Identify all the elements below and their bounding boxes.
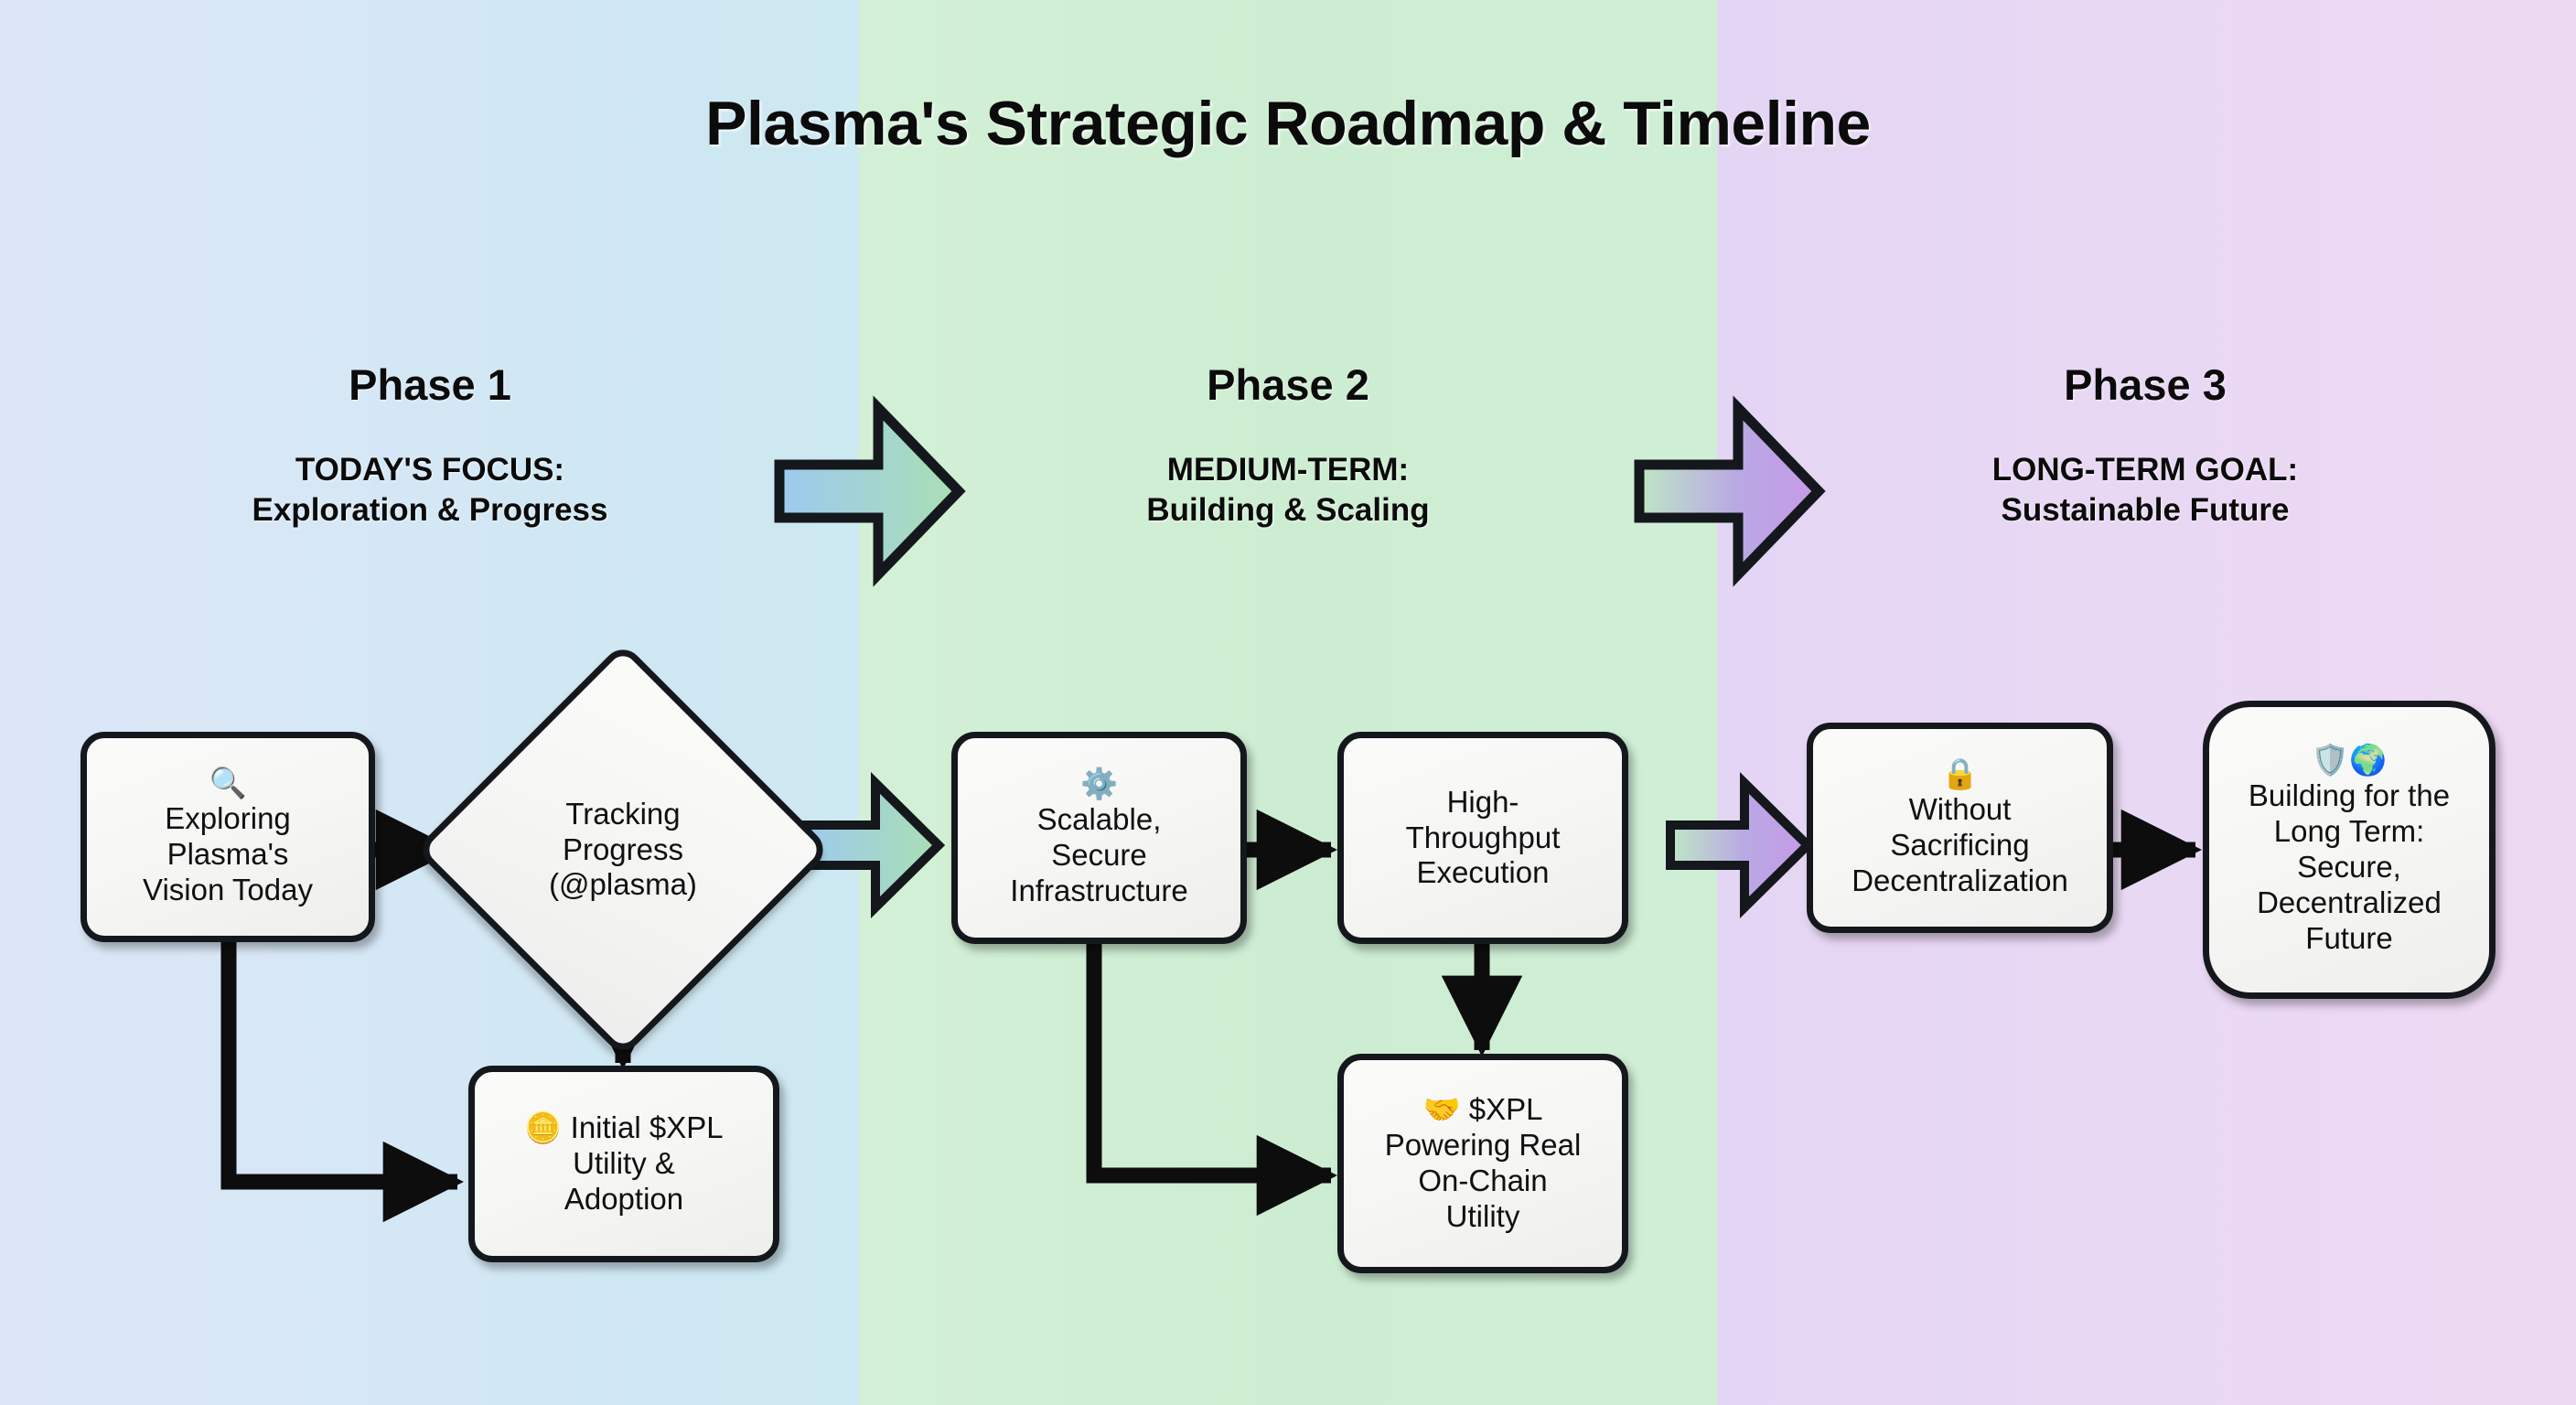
connector-n4-to-n6 xyxy=(1094,944,1331,1175)
flow-connectors-layer xyxy=(0,0,2576,1405)
node-n4-line-3: Infrastructure xyxy=(1010,874,1187,909)
node-n4-line-1: Scalable, xyxy=(1010,802,1187,838)
node-n8-line-4: Decentralized xyxy=(2249,885,2450,921)
node-n1-line-1: Exploring xyxy=(143,801,313,837)
gear-icon: ⚙️ xyxy=(1010,767,1187,802)
phase2-to-phase3-mid-arrow xyxy=(1670,783,1808,907)
node-n8-line-2: Long Term: xyxy=(2249,814,2450,850)
phase1-to-phase2-top-arrow xyxy=(779,408,959,574)
node-n1-line-2: Plasma's xyxy=(143,837,313,873)
phase2-to-phase3-top-arrow xyxy=(1639,408,1819,574)
node-n8-line-1: Building for the xyxy=(2249,778,2450,814)
node-n2-label: Tracking Progress (@plasma) xyxy=(549,797,697,904)
lock-icon: 🔒 xyxy=(1851,756,2068,792)
node-n6-line-1: 🤝 $XPL xyxy=(1385,1092,1582,1128)
node-n5-line-3: Execution xyxy=(1406,855,1561,891)
handshake-icon: 🤝 xyxy=(1423,1092,1461,1126)
node-exploring-plasma-vision[interactable]: 🔍 Exploring Plasma's Vision Today xyxy=(80,732,375,942)
node-tracking-progress[interactable]: Tracking Progress (@plasma) xyxy=(476,702,770,997)
node-n6-line-3: On-Chain xyxy=(1385,1164,1582,1199)
node-n2-line-1: Tracking xyxy=(549,797,697,832)
node-n3-line-1: 🪙 Initial $XPL xyxy=(524,1110,723,1146)
node-n7-line-3: Decentralization xyxy=(1851,863,2068,899)
node-n3-line-2: Utility & xyxy=(524,1146,723,1182)
connector-n1-to-n3 xyxy=(229,942,457,1182)
magnifying-glass-icon: 🔍 xyxy=(143,766,313,801)
coin-icon: 🪙 xyxy=(524,1110,562,1144)
node-high-throughput-execution[interactable]: High- Throughput Execution xyxy=(1337,732,1628,944)
node-n8-line-3: Secure, xyxy=(2249,850,2450,885)
node-n2-line-2: Progress xyxy=(549,832,697,868)
node-n6-line-4: Utility xyxy=(1385,1199,1582,1235)
node-building-long-term-future[interactable]: 🛡️🌍 Building for the Long Term: Secure, … xyxy=(2203,701,2495,999)
node-n8-line-5: Future xyxy=(2249,921,2450,957)
node-n6-line-2: Powering Real xyxy=(1385,1128,1582,1164)
node-without-sacrificing-decentralization[interactable]: 🔒 Without Sacrificing Decentralization xyxy=(1807,723,2113,933)
node-n5-line-2: Throughput xyxy=(1406,820,1561,856)
node-n7-line-2: Sacrificing xyxy=(1851,828,2068,863)
node-n1-line-3: Vision Today xyxy=(143,873,313,908)
node-initial-xpl-utility[interactable]: 🪙 Initial $XPL Utility & Adoption xyxy=(468,1066,779,1262)
node-n4-line-2: Secure xyxy=(1010,838,1187,874)
node-n3-line-3: Adoption xyxy=(524,1182,723,1217)
roadmap-diagram: Plasma's Strategic Roadmap & Timeline Ph… xyxy=(0,0,2576,1405)
node-n7-line-1: Without xyxy=(1851,792,2068,828)
shield-globe-icon: 🛡️🌍 xyxy=(2249,743,2450,778)
node-n2-line-3: (@plasma) xyxy=(549,867,697,903)
node-scalable-secure-infrastructure[interactable]: ⚙️ Scalable, Secure Infrastructure xyxy=(951,732,1247,944)
node-xpl-powering-onchain-utility[interactable]: 🤝 $XPL Powering Real On-Chain Utility xyxy=(1337,1054,1628,1273)
node-n5-line-1: High- xyxy=(1406,785,1561,820)
